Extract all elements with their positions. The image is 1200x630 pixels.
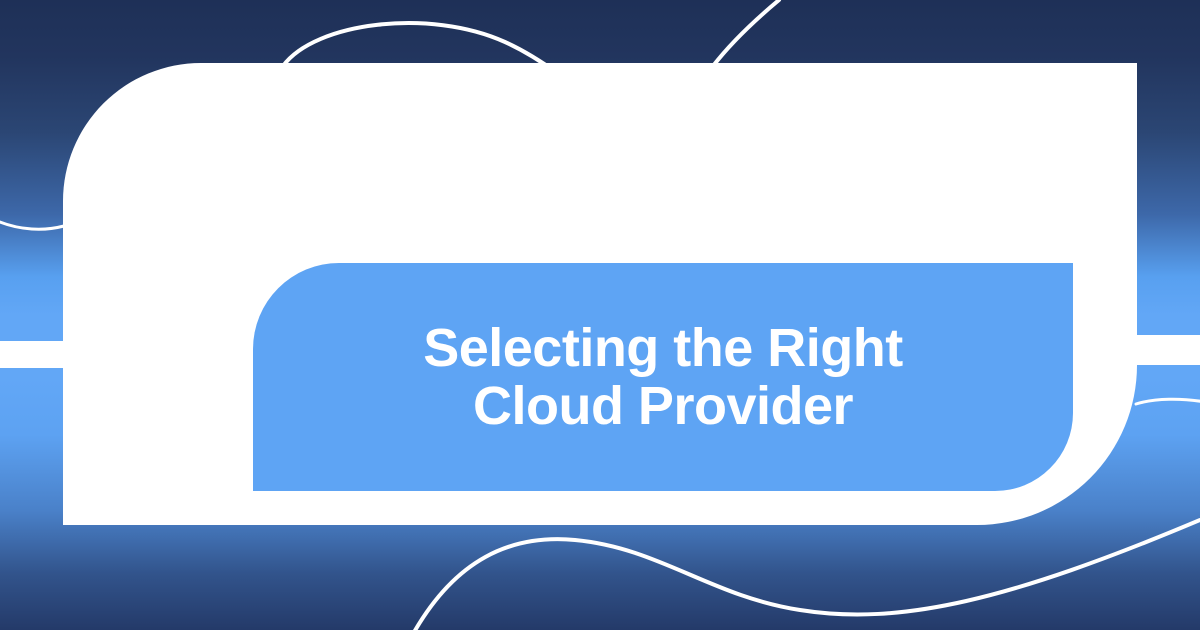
blue-title-panel: Selecting the Right Cloud Provider [253,263,1073,491]
left-white-band [0,341,64,368]
right-white-band [1136,335,1200,365]
white-content-card: Selecting the Right Cloud Provider [63,63,1137,525]
social-card-canvas: Selecting the Right Cloud Provider [0,0,1200,630]
page-title: Selecting the Right Cloud Provider [423,319,903,436]
